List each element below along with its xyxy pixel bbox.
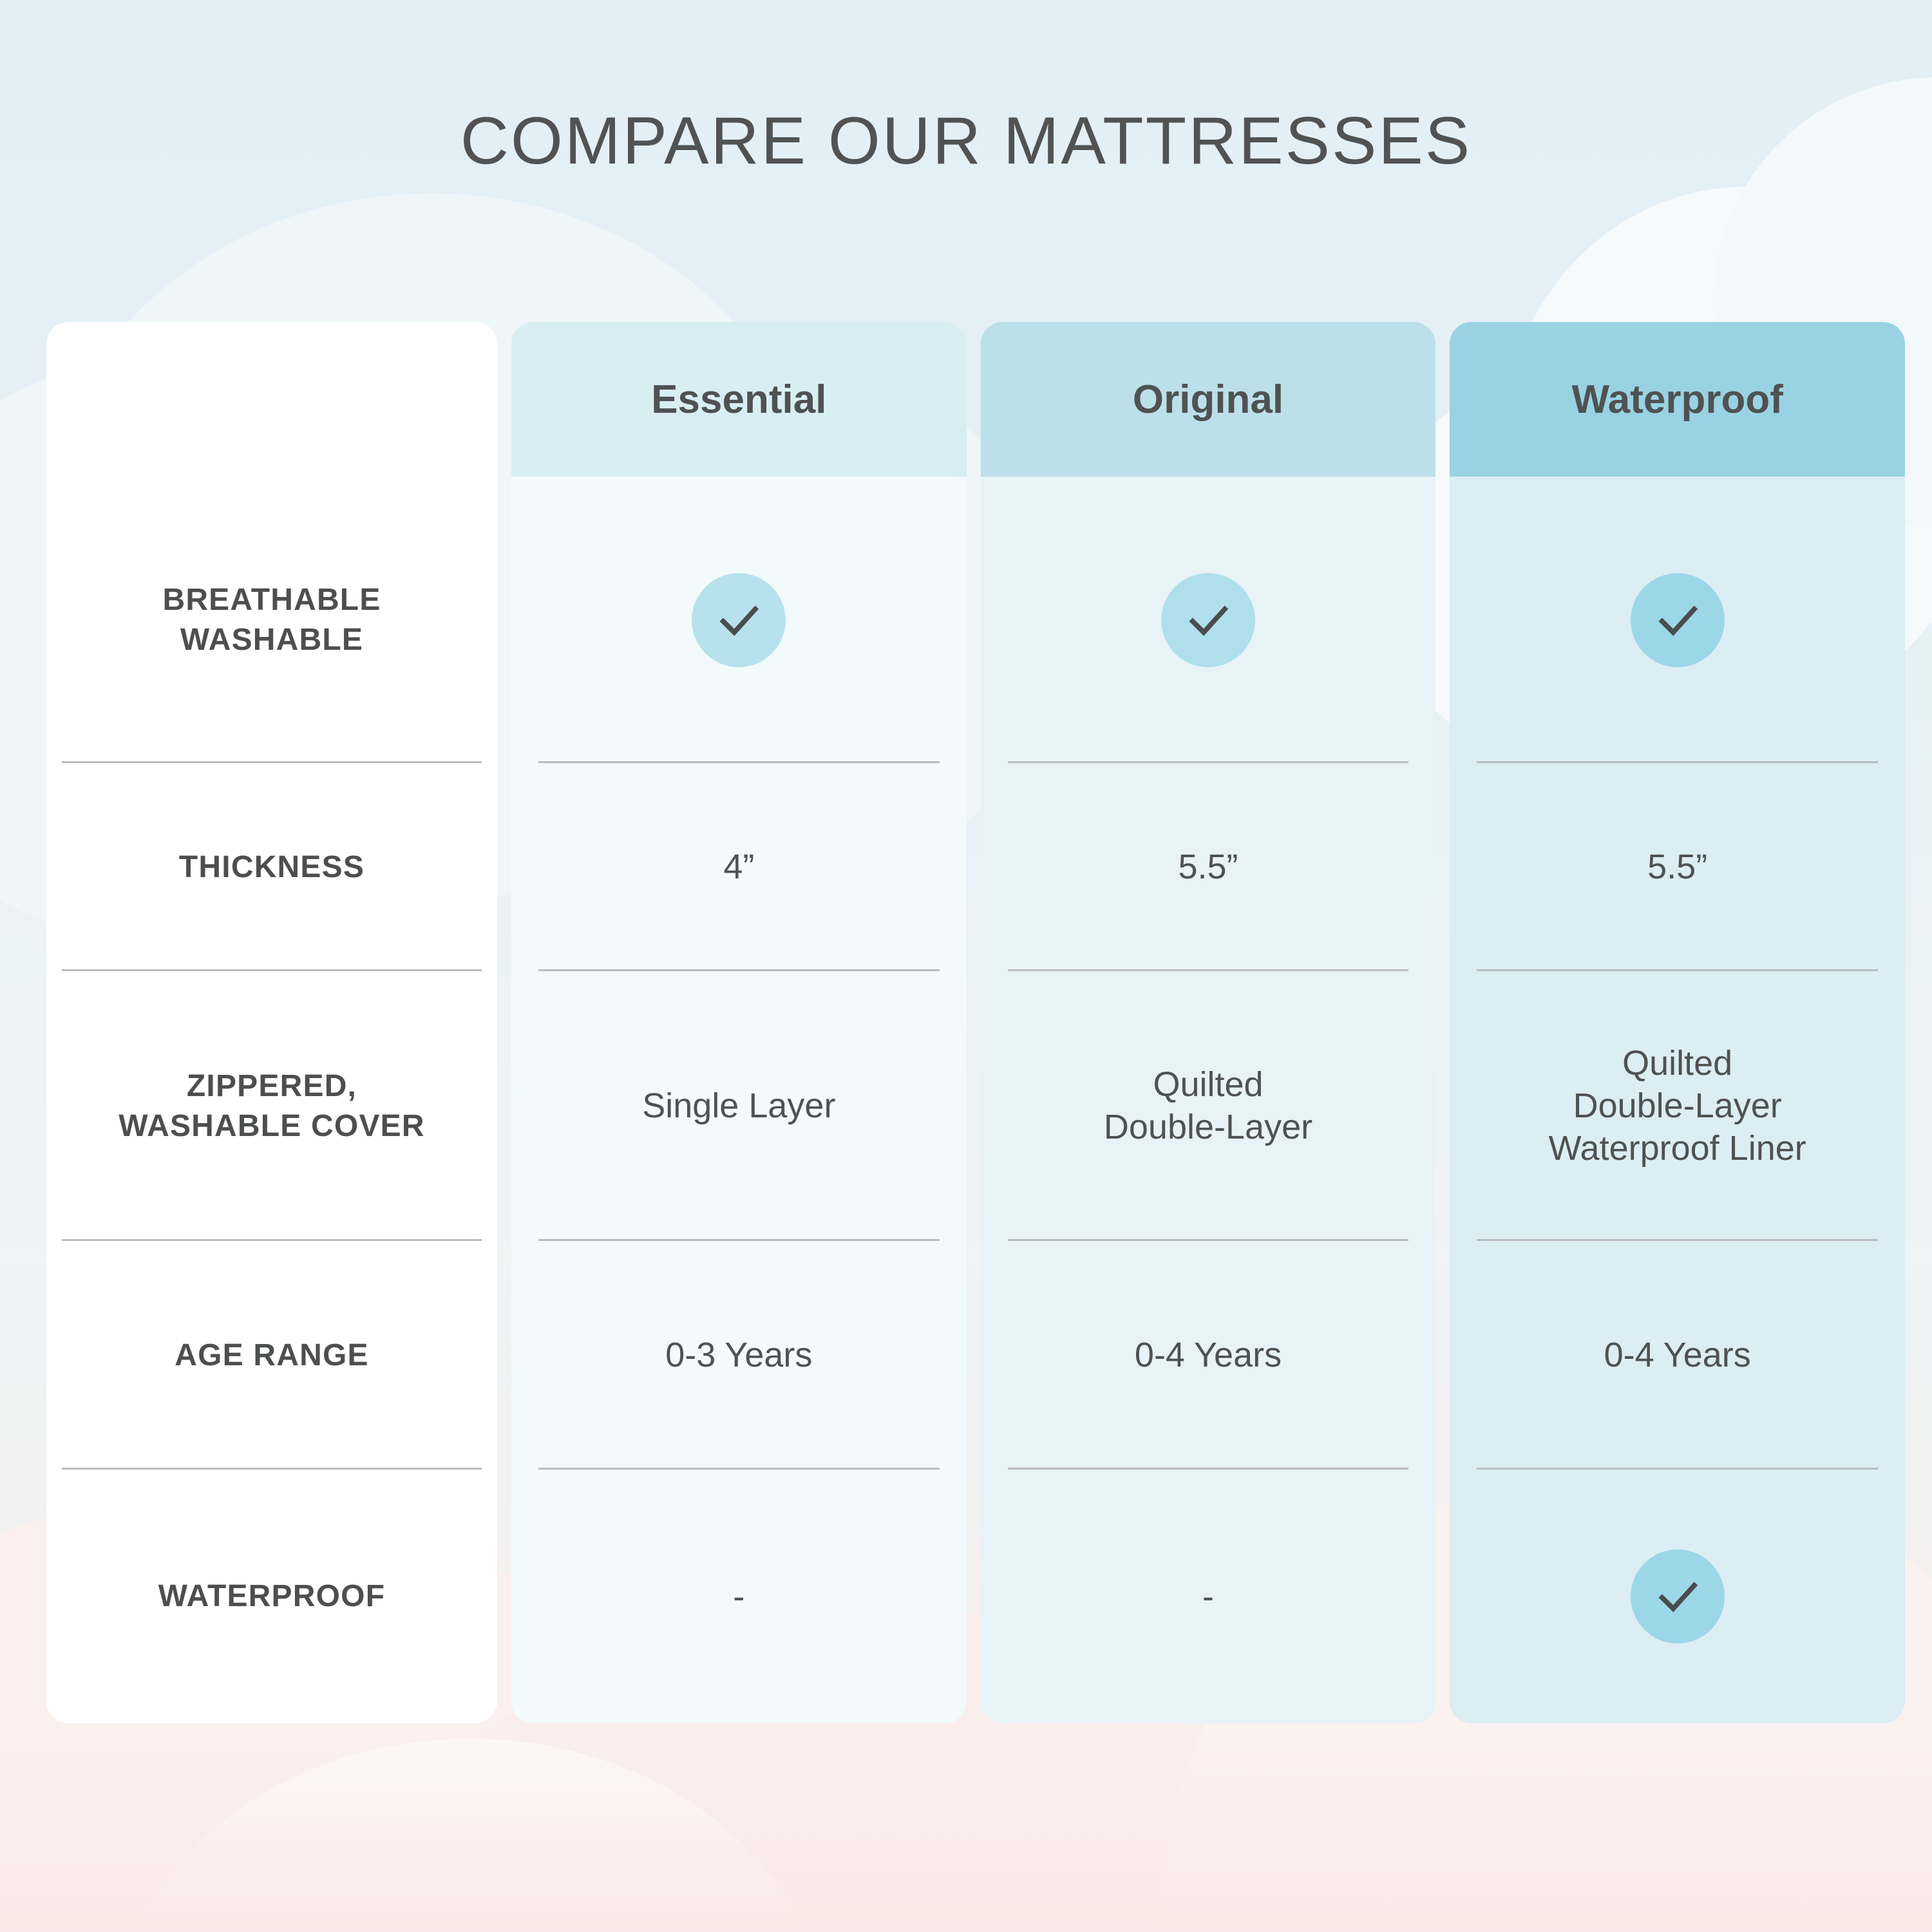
cell-value: 0-4 Years — [1135, 1334, 1282, 1377]
row-label-age-range: AGE RANGE — [46, 1241, 497, 1470]
row-label-thickness: THICKNESS — [46, 763, 497, 971]
column-body-waterproof: 5.5” Quilted Double-Layer Waterproof Lin… — [1450, 477, 1905, 1723]
label-lines: WATERPROOF — [158, 1577, 385, 1616]
check-icon — [1631, 573, 1725, 667]
product-column-original[interactable]: Original 5.5” Quilted Double-Layer — [981, 322, 1436, 1723]
cell-original-waterproof: - — [981, 1470, 1436, 1723]
cell-value-dash: - — [1202, 1579, 1214, 1614]
cell-value: 5.5” — [1647, 846, 1707, 889]
cell-original-age-range: 0-4 Years — [981, 1241, 1436, 1470]
page-title: COMPARE OUR MATTRESSES — [0, 103, 1932, 180]
label-line-1: AGE RANGE — [175, 1336, 369, 1375]
cell-essential-age-range: 0-3 Years — [511, 1241, 967, 1470]
feature-label-column: BREATHABLE WASHABLE THICKNESS ZIPPERED, … — [46, 322, 497, 1723]
comparison-table: BREATHABLE WASHABLE THICKNESS ZIPPERED, … — [46, 322, 1905, 1723]
column-header-essential: Essential — [511, 322, 967, 477]
cell-original-breathable-washable — [981, 477, 1436, 763]
cell-value: 0-4 Years — [1604, 1334, 1751, 1377]
cell-value: 5.5” — [1178, 846, 1238, 889]
cell-value: Single Layer — [642, 1085, 835, 1128]
cell-essential-cover: Single Layer — [511, 971, 967, 1241]
label-lines: THICKNESS — [179, 848, 365, 887]
cell-essential-breathable-washable — [511, 477, 967, 763]
check-icon — [692, 573, 786, 667]
row-label-zippered-washable-cover: ZIPPERED, WASHABLE COVER — [46, 971, 497, 1241]
check-icon-glyph — [1650, 1569, 1705, 1624]
cell-waterproof-breathable-washable — [1450, 477, 1905, 763]
cell-original-thickness: 5.5” — [981, 763, 1436, 971]
check-icon-glyph — [1650, 592, 1705, 648]
label-line-1: WATERPROOF — [158, 1577, 385, 1616]
product-column-waterproof[interactable]: Waterproof 5.5” Quilted Double-Layer Wat… — [1450, 322, 1905, 1723]
column-body-original: 5.5” Quilted Double-Layer 0-4 Years - — [981, 477, 1436, 1723]
label-lines: ZIPPERED, WASHABLE COVER — [118, 1066, 425, 1146]
cell-value: 4” — [723, 846, 754, 889]
cell-value-dash: - — [733, 1579, 744, 1614]
cell-waterproof-thickness: 5.5” — [1450, 763, 1905, 971]
label-column-header — [46, 322, 497, 477]
cell-waterproof-age-range: 0-4 Years — [1450, 1241, 1905, 1470]
label-line-2: WASHABLE COVER — [118, 1106, 425, 1146]
comparison-page: COMPARE OUR MATTRESSES BREATHABLE WASHAB… — [0, 0, 1932, 1932]
check-icon — [1631, 1549, 1725, 1643]
column-header-original: Original — [981, 322, 1436, 477]
cell-original-cover: Quilted Double-Layer — [981, 971, 1436, 1241]
label-lines: AGE RANGE — [175, 1336, 369, 1375]
cell-essential-waterproof: - — [511, 1470, 967, 1723]
label-line-1: BREATHABLE — [162, 580, 381, 620]
cell-waterproof-cover: Quilted Double-Layer Waterproof Liner — [1450, 971, 1905, 1241]
cell-value: Quilted Double-Layer — [1104, 1064, 1312, 1149]
check-icon-glyph — [1180, 592, 1236, 648]
product-column-essential[interactable]: Essential 4” Single Layer 0-3 Yea — [511, 322, 967, 1723]
blush-gradient-band — [0, 1739, 1932, 1932]
row-label-waterproof: WATERPROOF — [46, 1470, 497, 1723]
check-icon — [1161, 573, 1255, 667]
column-header-waterproof: Waterproof — [1450, 322, 1905, 477]
label-lines: BREATHABLE WASHABLE — [162, 580, 381, 659]
label-line-1: ZIPPERED, — [118, 1066, 425, 1106]
cell-essential-thickness: 4” — [511, 763, 967, 971]
check-icon-glyph — [711, 592, 766, 648]
label-line-2: WASHABLE — [162, 620, 381, 659]
cell-value: 0-3 Years — [665, 1334, 812, 1377]
cell-waterproof-waterproof — [1450, 1470, 1905, 1723]
label-line-1: THICKNESS — [179, 848, 365, 887]
column-body-essential: 4” Single Layer 0-3 Years - — [511, 477, 967, 1723]
row-label-breathable-washable: BREATHABLE WASHABLE — [46, 477, 497, 763]
label-column-body: BREATHABLE WASHABLE THICKNESS ZIPPERED, … — [46, 477, 497, 1723]
cell-value: Quilted Double-Layer Waterproof Liner — [1549, 1043, 1806, 1170]
